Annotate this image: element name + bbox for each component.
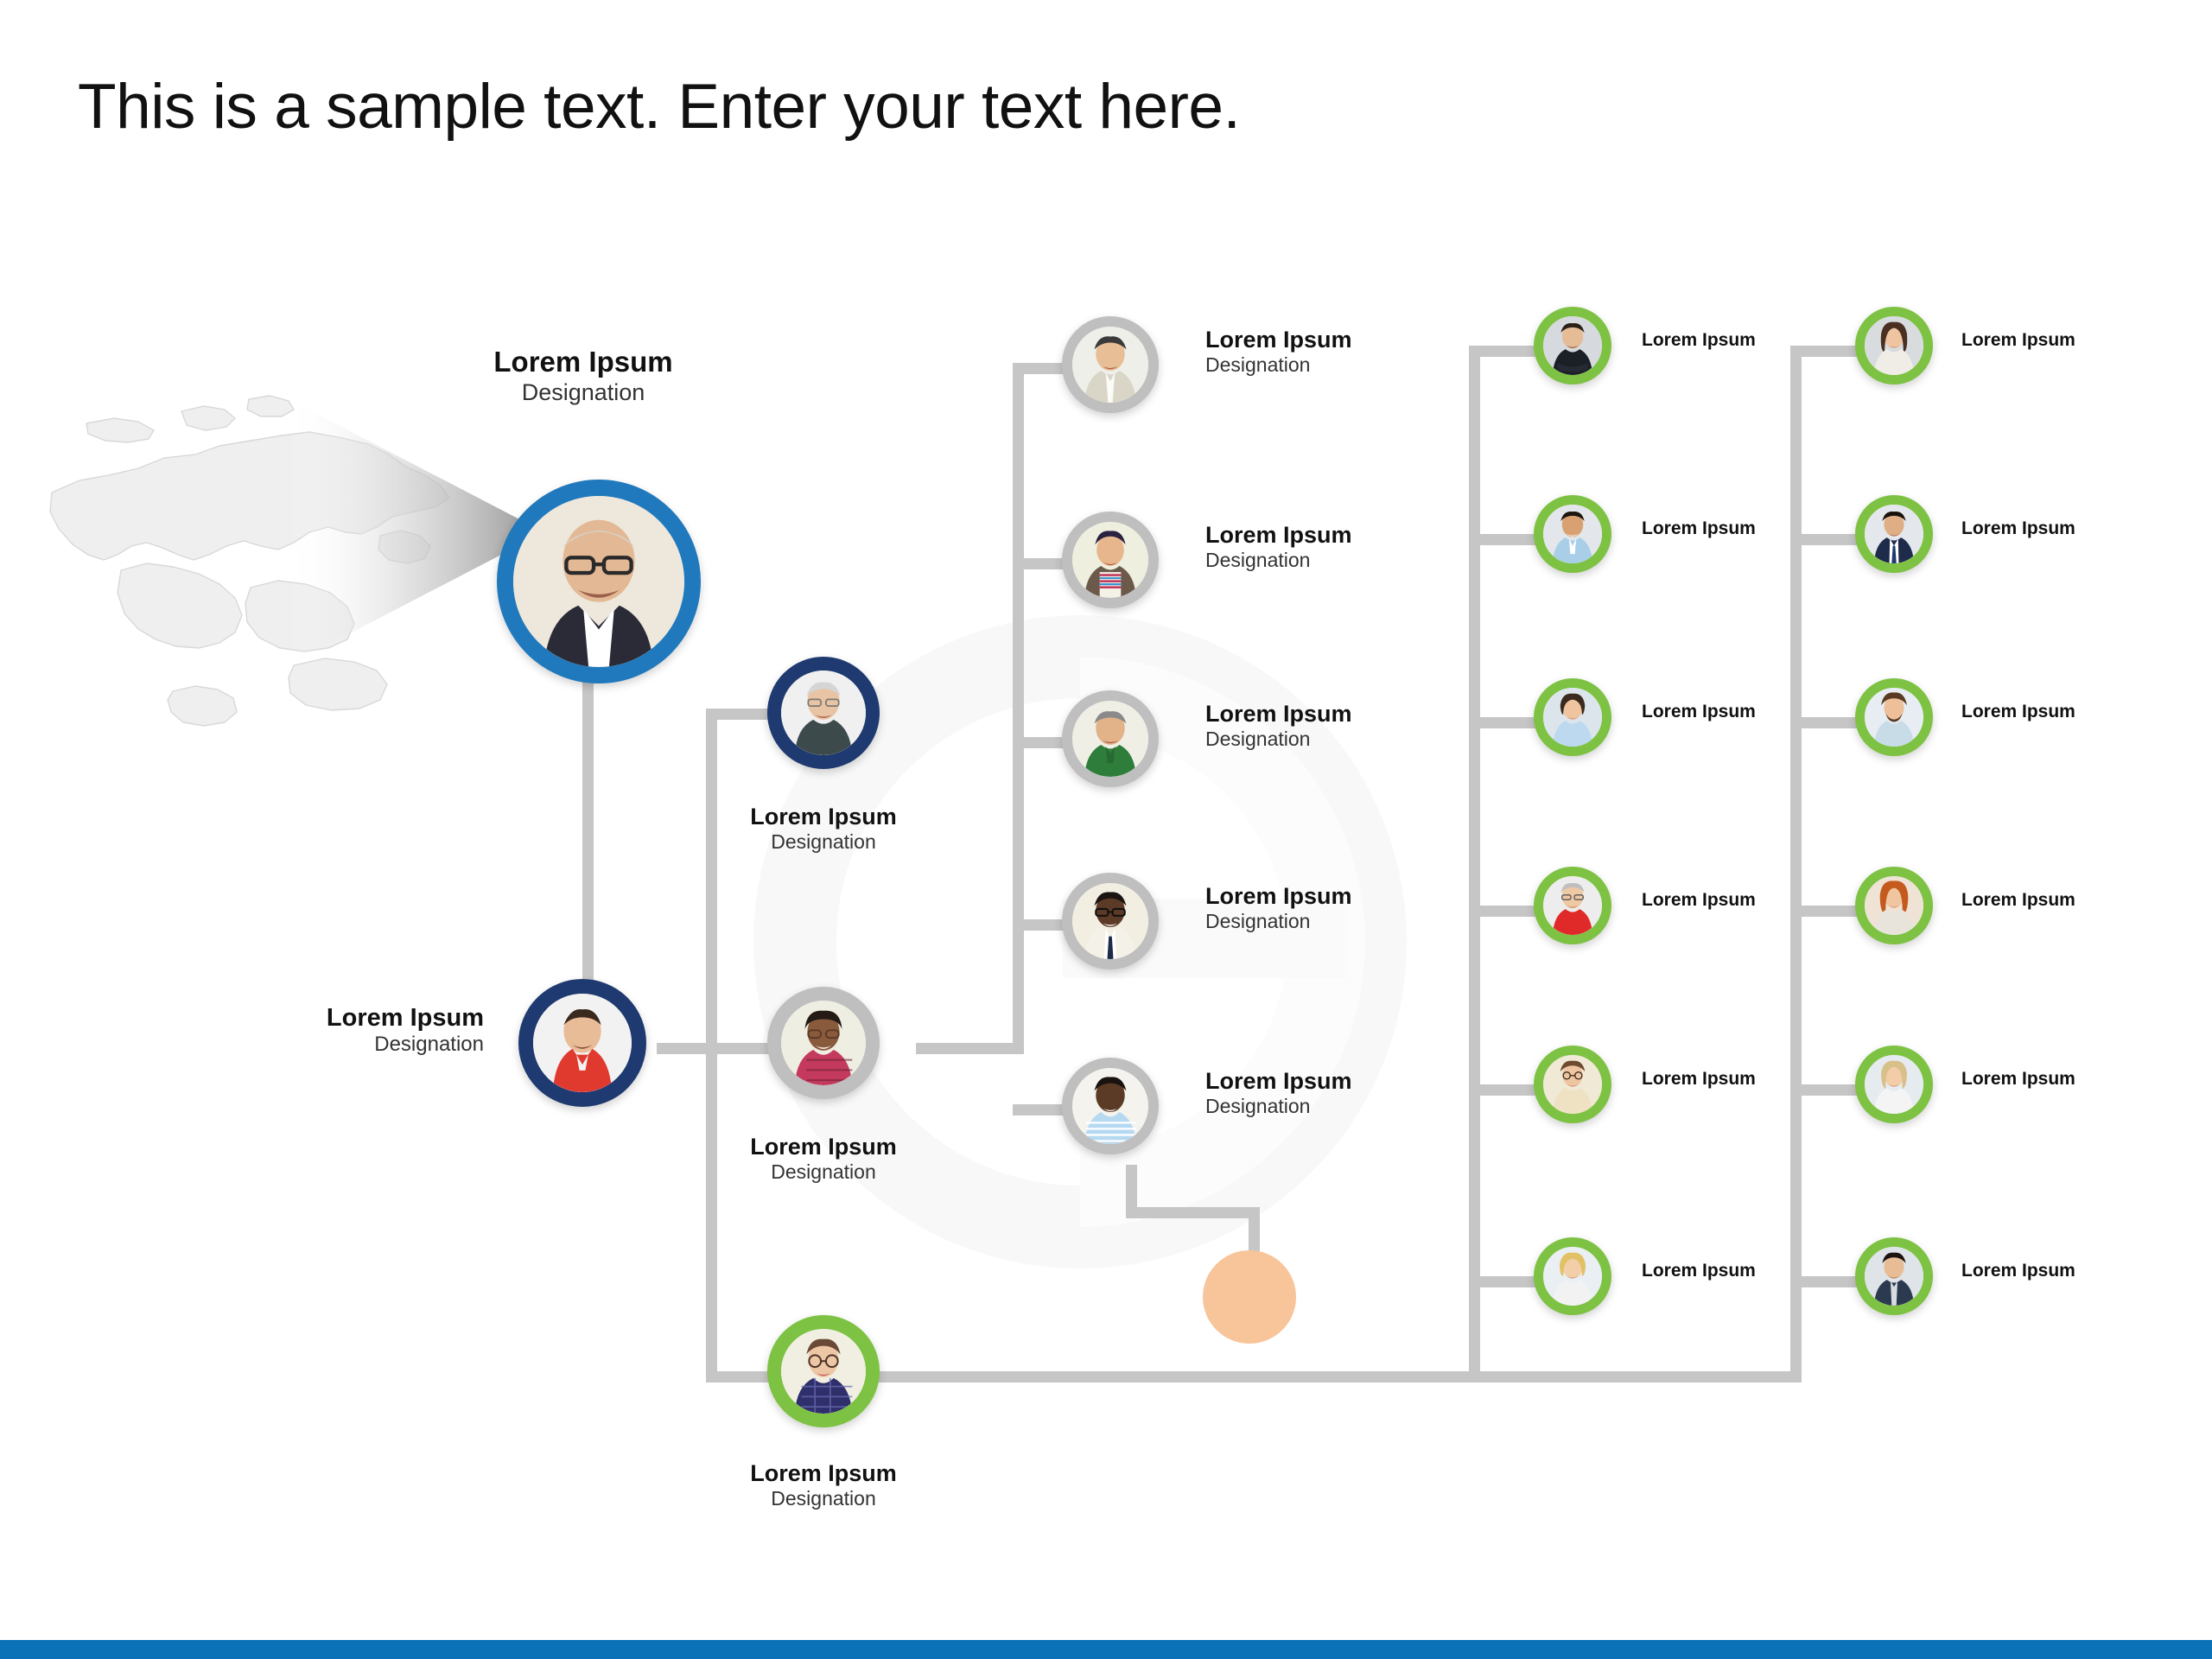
connector-to-gray-spine: [916, 1043, 1020, 1054]
node-green2-5-label: Lorem Ipsum: [1961, 1069, 2203, 1090]
node-branch-2-label: Lorem Ipsum Designation: [715, 1134, 931, 1185]
node-green1-3-name: Lorem Ipsum: [1642, 702, 1884, 722]
node-ceo-name: Lorem Ipsum: [372, 346, 795, 378]
node-branch-3-avatar[interactable]: [767, 1315, 880, 1427]
node-green2-6-avatar[interactable]: [1855, 1237, 1933, 1315]
node-branch-3-name: Lorem Ipsum: [715, 1460, 931, 1487]
connector-green2-spine: [1790, 346, 1802, 1382]
connector-bottom-trunk: [838, 1371, 1802, 1382]
node-green1-2-name: Lorem Ipsum: [1642, 518, 1884, 539]
node-green1-3-avatar[interactable]: [1534, 678, 1611, 756]
node-green1-5-label: Lorem Ipsum: [1642, 1069, 1884, 1090]
connector-dot-h: [1126, 1207, 1260, 1218]
node-green1-6-name: Lorem Ipsum: [1642, 1261, 1884, 1281]
node-gray-4-name: Lorem Ipsum: [1205, 883, 1465, 910]
node-gray-5-avatar[interactable]: [1062, 1058, 1159, 1154]
placeholder-dot-node[interactable]: [1203, 1250, 1296, 1344]
connector-branch-stub-3: [706, 1371, 775, 1382]
node-green1-5-name: Lorem Ipsum: [1642, 1069, 1884, 1090]
node-green2-1-name: Lorem Ipsum: [1961, 330, 2203, 351]
node-green2-1-avatar[interactable]: [1855, 307, 1933, 385]
node-branch-2-name: Lorem Ipsum: [715, 1134, 931, 1160]
node-level2-left-label: Lorem Ipsum Designation: [199, 1004, 484, 1058]
node-green1-3-label: Lorem Ipsum: [1642, 702, 1884, 722]
node-branch-1-label: Lorem Ipsum Designation: [715, 804, 931, 855]
node-green2-4-label: Lorem Ipsum: [1961, 890, 2203, 911]
node-green1-2-label: Lorem Ipsum: [1642, 518, 1884, 539]
node-gray-3-name: Lorem Ipsum: [1205, 701, 1465, 728]
node-green1-1-label: Lorem Ipsum: [1642, 330, 1884, 351]
node-green2-6-label: Lorem Ipsum: [1961, 1261, 2203, 1281]
node-green1-4-name: Lorem Ipsum: [1642, 890, 1884, 911]
footer-accent-bar: [0, 1640, 2212, 1659]
connector-gray-spine: [1013, 363, 1024, 1054]
node-green1-6-label: Lorem Ipsum: [1642, 1261, 1884, 1281]
node-branch-3-label: Lorem Ipsum Designation: [715, 1460, 931, 1511]
node-gray-2-avatar[interactable]: [1062, 512, 1159, 608]
node-green2-6-name: Lorem Ipsum: [1961, 1261, 2203, 1281]
node-green2-2-name: Lorem Ipsum: [1961, 518, 2203, 539]
node-gray-2-label: Lorem Ipsum Designation: [1205, 522, 1465, 573]
node-gray-2-designation: Designation: [1205, 549, 1465, 573]
node-level2-left-name: Lorem Ipsum: [199, 1004, 484, 1033]
node-level2-left-designation: Designation: [199, 1033, 484, 1058]
node-green2-1-label: Lorem Ipsum: [1961, 330, 2203, 351]
node-level2-left-avatar[interactable]: [518, 979, 646, 1107]
node-green1-2-avatar[interactable]: [1534, 495, 1611, 573]
node-green1-5-avatar[interactable]: [1534, 1046, 1611, 1123]
node-green2-3-avatar[interactable]: [1855, 678, 1933, 756]
node-gray-2-name: Lorem Ipsum: [1205, 522, 1465, 549]
node-green2-5-name: Lorem Ipsum: [1961, 1069, 2203, 1090]
connector-dot-v2: [1249, 1207, 1260, 1255]
node-gray-5-name: Lorem Ipsum: [1205, 1068, 1465, 1095]
node-gray-4-avatar[interactable]: [1062, 873, 1159, 969]
connector-branch-stub-2: [706, 1043, 775, 1054]
node-green2-5-avatar[interactable]: [1855, 1046, 1933, 1123]
node-ceo-label: Lorem Ipsum Designation: [372, 346, 795, 406]
node-green1-4-label: Lorem Ipsum: [1642, 890, 1884, 911]
node-gray-3-label: Lorem Ipsum Designation: [1205, 701, 1465, 752]
node-gray-3-designation: Designation: [1205, 728, 1465, 752]
node-green2-3-label: Lorem Ipsum: [1961, 702, 2203, 722]
node-green1-1-avatar[interactable]: [1534, 307, 1611, 385]
node-gray-1-avatar[interactable]: [1062, 316, 1159, 413]
node-ceo-designation: Designation: [372, 378, 795, 406]
node-green2-4-avatar[interactable]: [1855, 867, 1933, 944]
connector-branch-stub-1: [706, 709, 775, 720]
node-green2-4-name: Lorem Ipsum: [1961, 890, 2203, 911]
node-gray-5-label: Lorem Ipsum Designation: [1205, 1068, 1465, 1119]
node-green1-6-avatar[interactable]: [1534, 1237, 1611, 1315]
connector-green1-spine: [1469, 346, 1480, 1382]
node-gray-1-label: Lorem Ipsum Designation: [1205, 327, 1465, 378]
node-gray-1-name: Lorem Ipsum: [1205, 327, 1465, 353]
node-gray-4-label: Lorem Ipsum Designation: [1205, 883, 1465, 934]
node-ceo-avatar[interactable]: [497, 480, 701, 683]
node-branch-1-name: Lorem Ipsum: [715, 804, 931, 830]
page-title: This is a sample text. Enter your text h…: [78, 71, 1240, 143]
node-gray-5-designation: Designation: [1205, 1095, 1465, 1119]
node-branch-2-designation: Designation: [715, 1160, 931, 1185]
node-branch-1-designation: Designation: [715, 830, 931, 855]
node-gray-3-avatar[interactable]: [1062, 690, 1159, 787]
node-gray-1-designation: Designation: [1205, 353, 1465, 378]
node-green1-1-name: Lorem Ipsum: [1642, 330, 1884, 351]
node-green2-2-avatar[interactable]: [1855, 495, 1933, 573]
node-gray-4-designation: Designation: [1205, 910, 1465, 934]
node-branch-2-avatar[interactable]: [767, 987, 880, 1099]
node-branch-3-designation: Designation: [715, 1487, 931, 1511]
node-green1-4-avatar[interactable]: [1534, 867, 1611, 944]
node-green2-2-label: Lorem Ipsum: [1961, 518, 2203, 539]
node-green2-3-name: Lorem Ipsum: [1961, 702, 2203, 722]
slide-canvas: This is a sample text. Enter your text h…: [0, 0, 2212, 1659]
node-branch-1-avatar[interactable]: [767, 657, 880, 769]
